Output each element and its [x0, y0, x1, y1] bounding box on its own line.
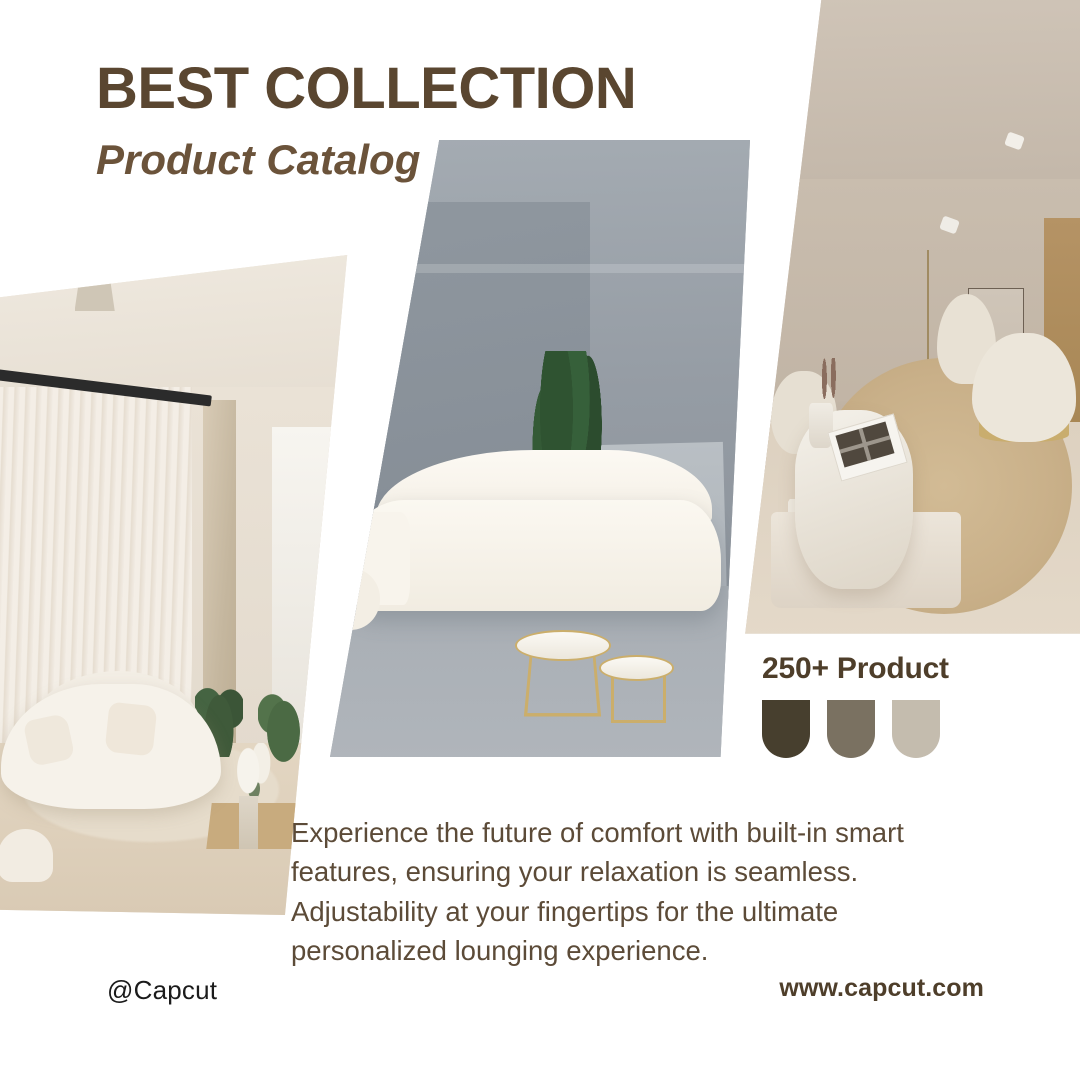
pendant-lamp-icon — [75, 278, 115, 311]
social-handle[interactable]: @Capcut — [107, 975, 217, 1006]
page-title: BEST COLLECTION — [96, 60, 636, 118]
cornice-line — [330, 264, 750, 273]
headline-block: BEST COLLECTION Product Catalog — [96, 60, 636, 181]
product-count-label: 250+ Product — [762, 652, 949, 686]
description-paragraph: Experience the future of comfort with bu… — [291, 813, 963, 970]
color-swatch-row — [762, 700, 949, 758]
throw-pillow-right — [105, 701, 157, 755]
marble-coffee-table-large — [515, 630, 612, 661]
color-swatch-light-beige[interactable] — [892, 700, 940, 758]
coffee-table-legs-small — [611, 673, 666, 723]
pendant-rod — [94, 255, 99, 281]
ceiling-surface — [740, 0, 1080, 192]
bedroom-scene — [740, 0, 1080, 640]
coffee-table-legs-large — [524, 654, 602, 716]
gray-studio-scene — [330, 140, 750, 760]
page-subtitle: Product Catalog — [96, 139, 636, 181]
dried-stems — [816, 358, 844, 409]
gallery-image-gray-studio[interactable] — [330, 140, 750, 760]
boucle-lounge-chair — [972, 333, 1076, 442]
color-swatch-taupe[interactable] — [827, 700, 875, 758]
glass-vase — [239, 796, 257, 849]
product-highlight-block: 250+ Product — [762, 652, 949, 758]
round-stool — [0, 829, 53, 882]
marble-coffee-table-small — [599, 655, 675, 681]
website-url[interactable]: www.capcut.com — [779, 974, 984, 1003]
gallery-image-bedroom[interactable] — [740, 0, 1080, 640]
color-swatch-dark-brown[interactable] — [762, 700, 810, 758]
poster-canvas: BEST COLLECTION Product Catalog 250+ Pro… — [0, 0, 1080, 1080]
